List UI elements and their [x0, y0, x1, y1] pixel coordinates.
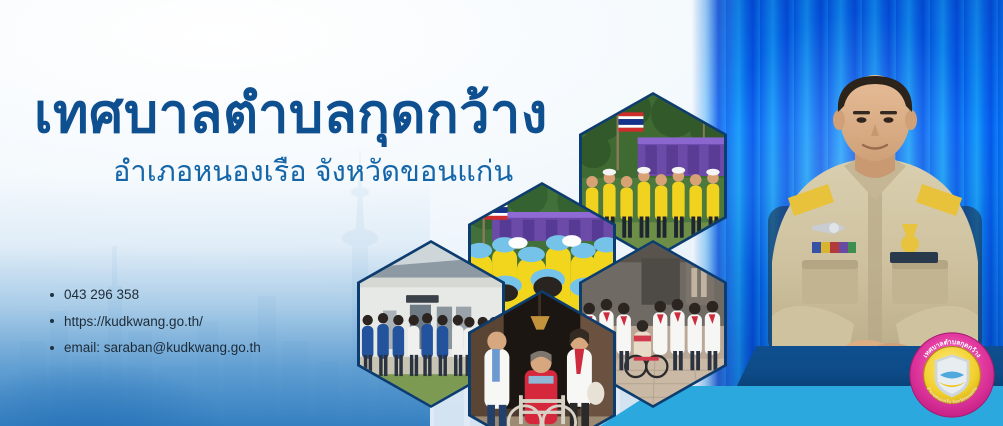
municipality-seal-logo[interactable]: เทศบาลตำบลกุดกว้าง อำเภอหนองเรือ จังหวัด…	[909, 332, 995, 418]
contact-phone[interactable]: 043 296 358	[48, 288, 261, 302]
contact-email[interactable]: email: saraban@kudkwang.go.th	[48, 341, 261, 355]
page-subtitle: อำเภอหนองเรือ จังหวัดขอนแก่น	[113, 157, 513, 189]
contact-list: 043 296 358 https://kudkwang.go.th/ emai…	[48, 288, 261, 368]
page-title: เทศบาลตำบลกุดกว้าง	[34, 86, 548, 143]
contact-website[interactable]: https://kudkwang.go.th/	[48, 315, 261, 329]
municipality-banner: เทศบาลตำบลกุดกว้าง อำเภอหนองเรือ จังหวัด…	[0, 0, 1003, 426]
